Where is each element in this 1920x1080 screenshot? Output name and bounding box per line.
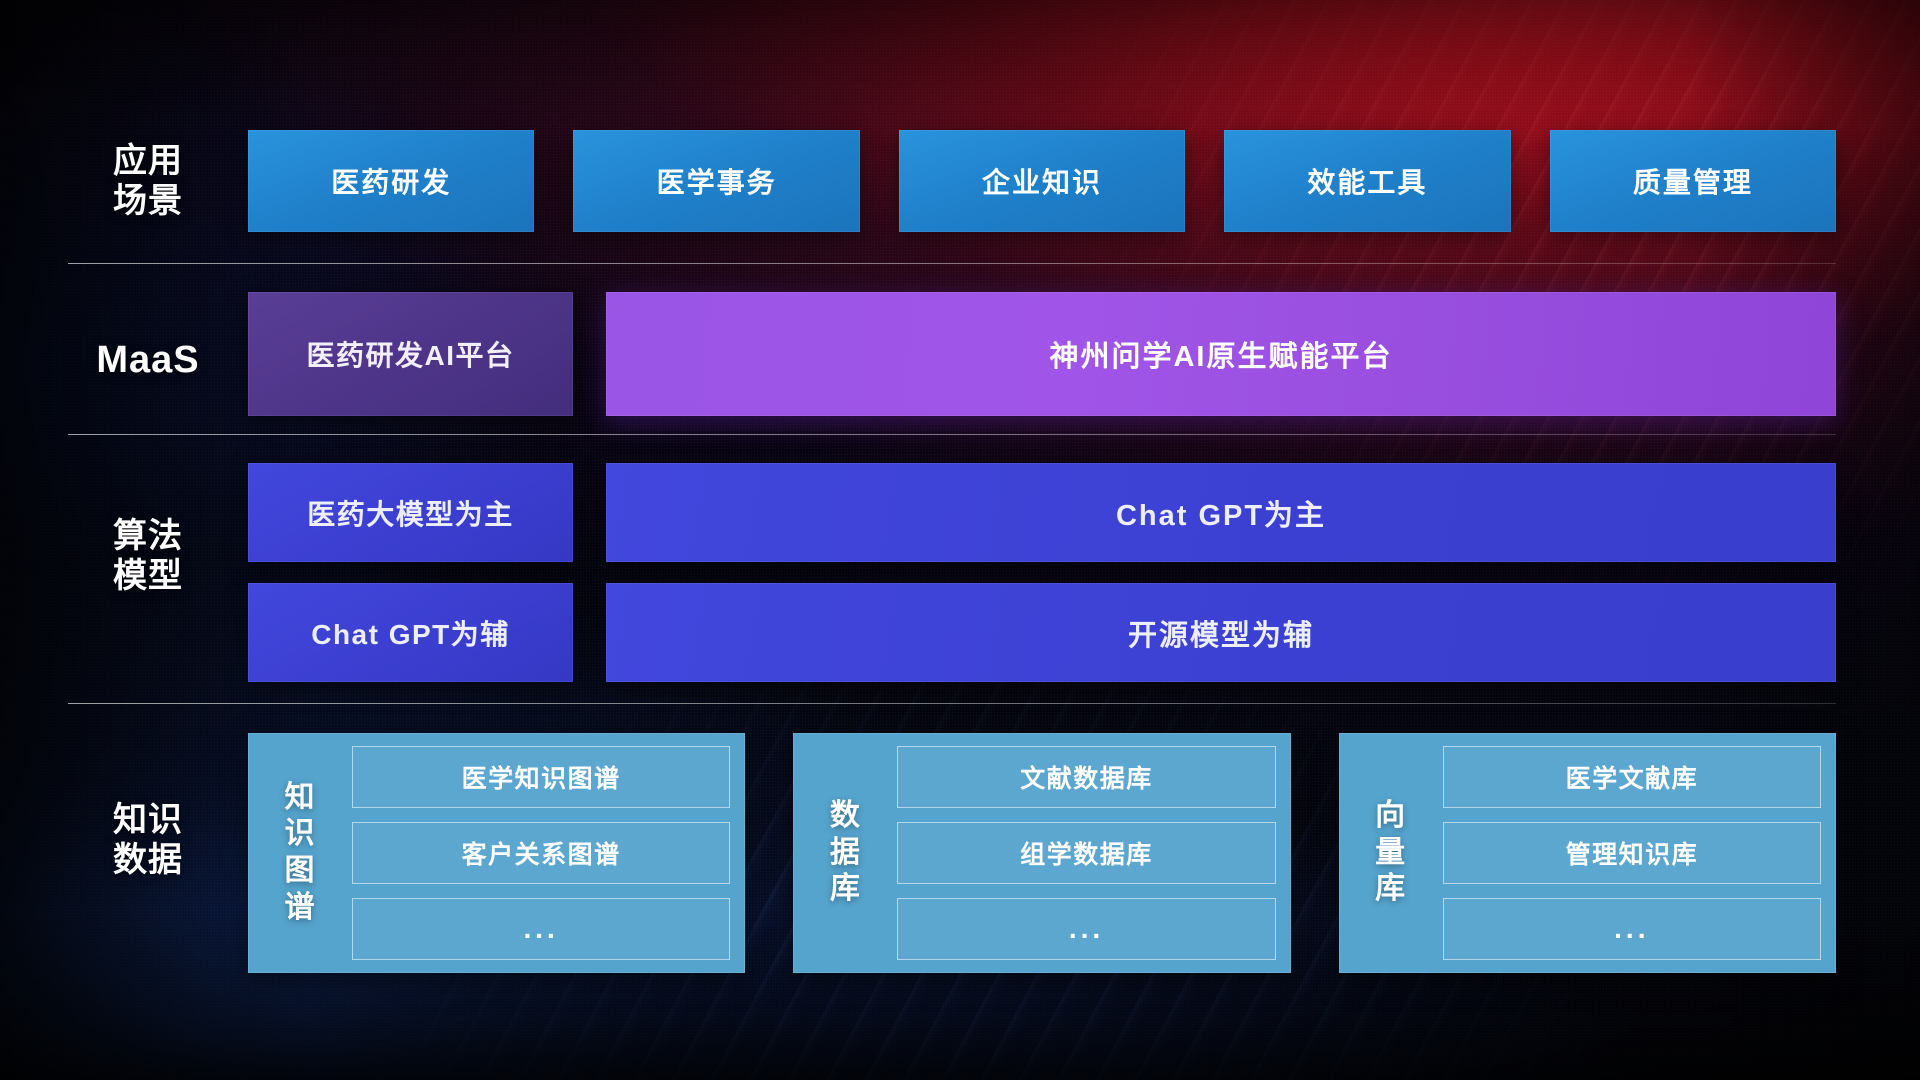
algorithms-card-group: 医药大模型为主 Chat GPT为主 Chat GPT为辅 开源模型为辅 bbox=[248, 463, 1836, 682]
algorithm-card-opensource-secondary[interactable]: 开源模型为辅 bbox=[606, 583, 1836, 682]
knowledge-item-more-vector-store[interactable]: ... bbox=[1443, 898, 1821, 960]
knowledge-panel-database[interactable]: 数据库 文献数据库 组学数据库 ... bbox=[793, 733, 1290, 973]
row-label-maas-text: MaaS bbox=[68, 338, 228, 383]
maas-card-row: 医药研发AI平台 神州问学AI原生赋能平台 bbox=[248, 292, 1836, 416]
knowledge-panel-row: 知识图谱 医学知识图谱 客户关系图谱 ... 数据库 文献数据库 组学数据库 .… bbox=[248, 733, 1836, 973]
maas-card-shenzhou-wenxue-platform[interactable]: 神州问学AI原生赋能平台 bbox=[606, 292, 1836, 416]
knowledge-item-list-vector-store: 医学文献库 管理知识库 ... bbox=[1430, 746, 1821, 960]
applications-card-row: 医药研发 医学事务 企业知识 效能工具 质量管理 bbox=[248, 130, 1836, 232]
knowledge-item-more-knowledge-graph[interactable]: ... bbox=[352, 898, 730, 960]
row-label-algorithms-line2: 模型 bbox=[68, 556, 228, 596]
divider-maas-algorithms bbox=[68, 434, 1836, 435]
knowledge-item-customer-relation-graph[interactable]: 客户关系图谱 bbox=[352, 822, 730, 884]
knowledge-item-omics-database[interactable]: 组学数据库 bbox=[897, 822, 1275, 884]
algorithm-card-chatgpt-secondary[interactable]: Chat GPT为辅 bbox=[248, 583, 573, 682]
knowledge-panel-title-database: 数据库 bbox=[806, 746, 884, 960]
application-card-quality-management[interactable]: 质量管理 bbox=[1550, 130, 1836, 232]
application-card-medical-rd[interactable]: 医药研发 bbox=[248, 130, 534, 232]
algorithms-primary-line: 医药大模型为主 Chat GPT为主 bbox=[248, 463, 1836, 562]
knowledge-panel-knowledge-graph[interactable]: 知识图谱 医学知识图谱 客户关系图谱 ... bbox=[248, 733, 745, 973]
application-card-medical-affairs[interactable]: 医学事务 bbox=[573, 130, 859, 232]
knowledge-item-list-database: 文献数据库 组学数据库 ... bbox=[884, 746, 1275, 960]
diagram-content: 应用 场景 医药研发 医学事务 企业知识 效能工具 质量管理 MaaS 医药研发… bbox=[0, 0, 1920, 1080]
row-label-knowledge: 知识 数据 bbox=[68, 800, 228, 880]
row-label-algorithms-line1: 算法 bbox=[68, 516, 228, 556]
knowledge-panel-title-vector-store: 向量库 bbox=[1352, 746, 1430, 960]
divider-applications-maas bbox=[68, 263, 1836, 264]
row-label-maas: MaaS bbox=[68, 338, 228, 383]
divider-algorithms-knowledge bbox=[68, 703, 1836, 704]
maas-card-pharma-ai-platform[interactable]: 医药研发AI平台 bbox=[248, 292, 573, 416]
application-card-enterprise-knowledge[interactable]: 企业知识 bbox=[899, 130, 1185, 232]
row-label-knowledge-line2: 数据 bbox=[68, 840, 228, 880]
knowledge-panel-title-knowledge-graph: 知识图谱 bbox=[261, 746, 339, 960]
row-label-applications-line2: 场景 bbox=[68, 181, 228, 221]
knowledge-item-management-knowledge-store[interactable]: 管理知识库 bbox=[1443, 822, 1821, 884]
algorithm-card-pharma-llm-primary[interactable]: 医药大模型为主 bbox=[248, 463, 573, 562]
knowledge-item-more-database[interactable]: ... bbox=[897, 898, 1275, 960]
row-label-applications: 应用 场景 bbox=[68, 141, 228, 221]
knowledge-item-list-knowledge-graph: 医学知识图谱 客户关系图谱 ... bbox=[339, 746, 730, 960]
row-label-applications-line1: 应用 bbox=[68, 141, 228, 181]
knowledge-item-literature-database[interactable]: 文献数据库 bbox=[897, 746, 1275, 808]
knowledge-panel-vector-store[interactable]: 向量库 医学文献库 管理知识库 ... bbox=[1339, 733, 1836, 973]
algorithms-secondary-line: Chat GPT为辅 开源模型为辅 bbox=[248, 583, 1836, 682]
application-card-efficiency-tools[interactable]: 效能工具 bbox=[1224, 130, 1510, 232]
knowledge-item-medical-literature-store[interactable]: 医学文献库 bbox=[1443, 746, 1821, 808]
row-label-knowledge-line1: 知识 bbox=[68, 800, 228, 840]
algorithm-card-chatgpt-primary[interactable]: Chat GPT为主 bbox=[606, 463, 1836, 562]
knowledge-item-medical-knowledge-graph[interactable]: 医学知识图谱 bbox=[352, 746, 730, 808]
slide-canvas: 应用 场景 医药研发 医学事务 企业知识 效能工具 质量管理 MaaS 医药研发… bbox=[0, 0, 1920, 1080]
row-label-algorithms: 算法 模型 bbox=[68, 516, 228, 596]
